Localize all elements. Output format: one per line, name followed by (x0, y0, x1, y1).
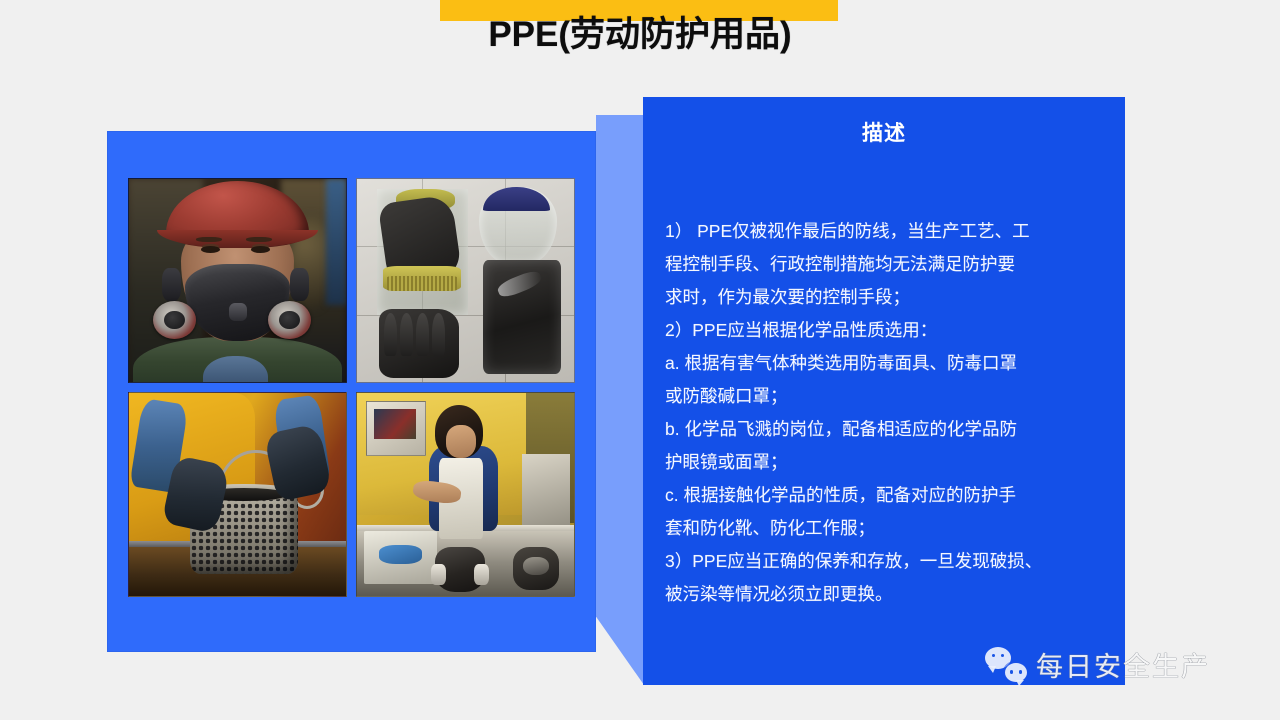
photo-gloved-hands-basket (128, 392, 347, 597)
watermark-text: 每日安全生产 (1036, 645, 1210, 684)
photo2-glove-finger-4 (432, 313, 446, 356)
description-line: 被污染等情况必须立即更换。 (665, 578, 1109, 611)
description-line: 2）PPE应当根据化学品性质选用： (665, 314, 1109, 347)
photo2-brush-bristles (387, 276, 456, 290)
chevron-connector-icon (596, 115, 644, 685)
wechat-icon (985, 647, 1027, 683)
photo2-plastic-sheen (496, 268, 544, 300)
page-title: PPE(劳动防护用品) (0, 6, 1280, 57)
description-line: 护眼镜或面罩； (665, 446, 1109, 479)
photo1-eyebrow-left (196, 237, 222, 242)
photo1-cartridge-center-right (279, 311, 300, 330)
description-line: 程控制手段、行政控制措施均无法满足防护要 (665, 248, 1109, 281)
wechat-dot (1010, 670, 1013, 673)
description-title: 描述 (643, 117, 1125, 147)
photo-ppe-kit-on-floor (356, 178, 575, 383)
description-body: 1） PPE仅被视作最后的防线，当生产工艺、工 程控制手段、行政控制措施均无法满… (665, 215, 1109, 611)
photo-worker-respirator-hardhat (128, 178, 347, 383)
description-line: 求时，作为最次要的控制手段； (665, 281, 1109, 314)
photo2-rubber-gloves (379, 309, 459, 378)
wechat-dot (1019, 670, 1022, 673)
wechat-bubble-small (1005, 663, 1027, 682)
photo1-mask-strap-right (290, 268, 310, 300)
description-line: c. 根据接触化学品的性质，配备对应的防护手 (665, 479, 1109, 512)
description-line: b. 化学品飞溅的岗位，配备相适应的化学品防 (665, 413, 1109, 446)
photo4-respirator-lens (523, 557, 549, 576)
description-line: 或防酸碱口罩； (665, 380, 1109, 413)
photo4-respirator-cartridge-left (431, 564, 446, 585)
photo4-wall-poster (366, 401, 427, 456)
photo-panel (107, 131, 596, 652)
photo-respirator-maintenance (356, 392, 575, 597)
photo4-cabinet (522, 454, 570, 535)
photo2-glove-finger-2 (400, 313, 414, 356)
photo4-blue-items (379, 545, 422, 563)
photo4-worker-face (446, 425, 476, 457)
slide-title-area: PPE(劳动防护用品) (0, 0, 1280, 70)
description-line: 3）PPE应当正确的保养和存放，一旦发现破损、 (665, 545, 1109, 578)
photo1-background-blue (326, 179, 346, 305)
photo4-respirator-second (513, 547, 559, 590)
description-panel: 描述 1） PPE仅被视作最后的防线，当生产工艺、工 程控制手段、行政控制措施均… (643, 97, 1125, 685)
photo1-mask-valve (229, 303, 247, 322)
photo1-eyebrow-right (246, 237, 272, 242)
photo4-respirator-cartridge-right (474, 564, 489, 585)
photo1-cartridge-center-left (164, 311, 185, 330)
photo4-poster-image (374, 409, 416, 439)
photo1-mask-strap-left (162, 268, 182, 300)
photo2-glove-finger-3 (416, 313, 430, 356)
watermark: 每日安全生产 (985, 645, 1210, 684)
description-line: 套和防化靴、防化工作服； (665, 512, 1109, 545)
photo-grid (128, 178, 575, 606)
description-line: 1） PPE仅被视作最后的防线，当生产工艺、工 (665, 215, 1109, 248)
photo2-protective-clothing (483, 260, 561, 374)
photo4-respirator-front (435, 547, 485, 592)
photo2-glove-finger-1 (384, 313, 398, 356)
description-line: a. 根据有害气体种类选用防毒面具、防毒口罩 (665, 347, 1109, 380)
